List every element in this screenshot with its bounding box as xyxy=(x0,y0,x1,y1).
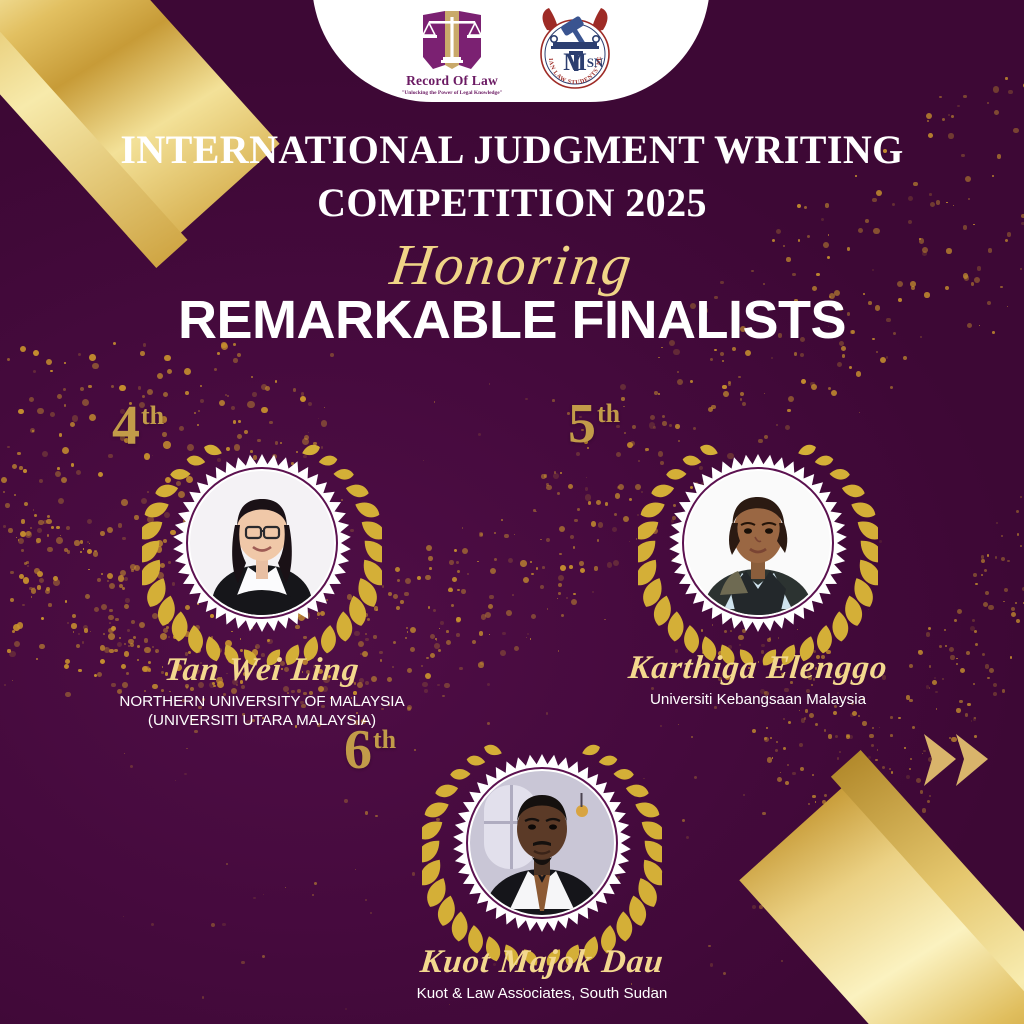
badge-starburst-6 xyxy=(453,754,631,932)
portrait-kuot-majok-dau xyxy=(470,771,614,915)
medal-frame-4 xyxy=(142,428,382,668)
medal-frame-6 xyxy=(422,728,662,968)
finalist-card-4: 4th xyxy=(142,428,382,668)
record-of-law-tagline: "Unlocking the Power of Legal Knowledge" xyxy=(401,90,502,96)
finalist-card-5: 5th xyxy=(638,428,878,668)
finalist-name-5: Karthiga Elenggo xyxy=(560,650,956,687)
title-headline: REMARKABLE FINALISTS xyxy=(0,290,1024,350)
record-of-law-name: Record Of Law xyxy=(406,73,498,89)
portrait-tan-wei-ling xyxy=(190,471,334,615)
finalist-card-6: 6th xyxy=(422,728,662,968)
finalist-place-6: 6th xyxy=(344,722,396,778)
finalist-place-5: 5th xyxy=(568,396,620,452)
avatar-4 xyxy=(190,471,334,615)
poster-canvas: Record Of Law "Unlocking the Power of Le… xyxy=(0,0,1024,1024)
badge-starburst-4 xyxy=(173,454,351,632)
gold-ribbon-bottom-right-secondary xyxy=(831,750,1024,1024)
logo-mlsn: M SN MALAYSIAN LAW STUDENTS' NETWORK xyxy=(529,4,621,96)
scales-of-justice-shield-icon xyxy=(415,9,489,71)
finalist-name-6: Kuot Majok Dau xyxy=(340,944,744,981)
portrait-karthiga-elenggo xyxy=(686,471,830,615)
logo-record-of-law: Record Of Law "Unlocking the Power of Le… xyxy=(401,9,502,96)
title-line-1: INTERNATIONAL JUDGMENT WRITING xyxy=(0,124,1024,177)
finalist-name-4: Tan Wei Ling xyxy=(78,652,446,689)
badge-starburst-5 xyxy=(669,454,847,632)
avatar-5 xyxy=(686,471,830,615)
title-script-honoring: Honoring xyxy=(0,236,1024,294)
double-chevron-right-icon xyxy=(922,730,992,790)
gold-ribbon-bottom-right xyxy=(739,779,1024,1024)
title-line-2: COMPETITION 2025 xyxy=(0,177,1024,230)
finalist-org-6: Kuot & Law Associates, South Sudan xyxy=(342,984,742,1003)
medal-frame-5 xyxy=(638,428,878,668)
avatar-6 xyxy=(470,771,614,915)
finalist-org-5: Universiti Kebangsaan Malaysia xyxy=(562,690,954,709)
gavel-quills-seal-icon: M SN MALAYSIAN LAW STUDENTS' NETWORK xyxy=(529,4,621,96)
title-block: INTERNATIONAL JUDGMENT WRITING COMPETITI… xyxy=(0,124,1024,350)
header-logo-capsule: Record Of Law "Unlocking the Power of Le… xyxy=(312,0,710,102)
